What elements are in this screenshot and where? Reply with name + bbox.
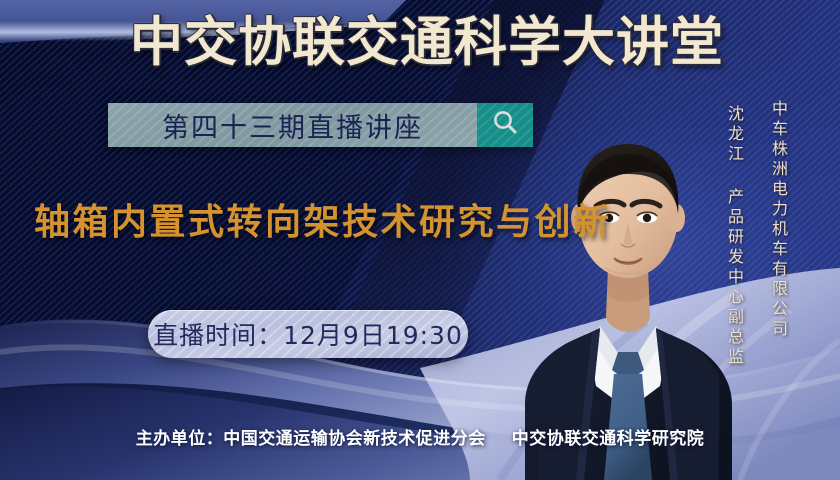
live-time-text: 直播时间：12月9日19:30 bbox=[153, 316, 463, 352]
page-title: 中交协联交通科学大讲堂 bbox=[0, 16, 840, 69]
live-time-badge: 直播时间：12月9日19:30 bbox=[148, 310, 468, 358]
episode-label: 第四十三期直播讲座 bbox=[162, 106, 423, 145]
organizer-secondary: 中交协联交通科学研究院 bbox=[512, 429, 705, 449]
episode-search-bar[interactable]: 第四十三期直播讲座 bbox=[108, 103, 533, 147]
organizer-primary: 主办单位：中国交通运输协会新技术促进分会 bbox=[136, 429, 486, 449]
search-button[interactable] bbox=[477, 103, 533, 147]
search-icon bbox=[490, 108, 520, 143]
lecture-topic-title: 轴箱内置式转向架技术研究与创新 bbox=[34, 193, 612, 245]
organizers-footer: 主办单位：中国交通运输协会新技术促进分会中交协联交通科学研究院 bbox=[0, 424, 840, 449]
search-input[interactable]: 第四十三期直播讲座 bbox=[108, 103, 477, 147]
speaker-company: 中车株洲电力机车有限公司 bbox=[766, 100, 790, 340]
speaker-name-and-role: 沈龙江 产品研发中心副总监 bbox=[722, 105, 746, 368]
live-lecture-poster: 中交协联交通科学大讲堂 第四十三期直播讲座 轴箱内置式转向架技术研究与创新 直播… bbox=[0, 0, 840, 480]
